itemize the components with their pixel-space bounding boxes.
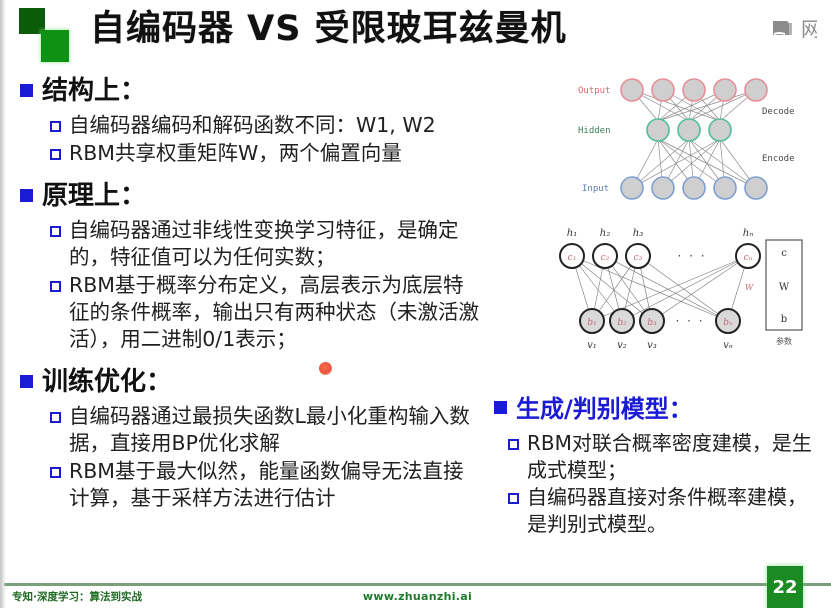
- rbm-label-v3: v₃: [647, 340, 657, 351]
- rbm-label-h3: h₃: [633, 228, 643, 239]
- section-heading-generative-discriminative: 生成/判别模型：: [494, 392, 824, 426]
- list-item-label: 自编码器通过最损失函数L最小化重构输入数据，直接用BP优化求解: [69, 403, 480, 457]
- rbm-label-vn: vₙ: [723, 340, 733, 351]
- hollow-square-bullet-icon: [50, 121, 61, 132]
- section-heading-principle: 原理上：: [20, 179, 480, 213]
- footer-divider: [4, 583, 831, 586]
- hollow-square-bullet-icon: [50, 467, 61, 478]
- ae-label-hidden: Hidden: [578, 126, 611, 136]
- section-heading-structure: 结构上：: [20, 74, 480, 108]
- section-heading-label: 原理上：: [42, 179, 146, 213]
- page-number-badge: 22: [767, 566, 803, 608]
- rbm-hidden-node-c3: c₃: [634, 253, 643, 263]
- section-list-structure: 自编码器编码和解码函数不同：W1, W2 RBM共享权重矩阵W，两个偏置向量: [20, 112, 480, 167]
- ae-label-output: Output: [578, 86, 611, 96]
- rbm-label-h1: h₁: [567, 228, 577, 239]
- list-item-label: RBM基于概率分布定义，高层表示为底层特征的条件概率，输出只有两种状态（未激活激…: [69, 272, 480, 353]
- rbm-visible-node-b2: b₂: [617, 318, 627, 328]
- logo-square-light-icon: [41, 30, 69, 62]
- rbm-hidden-node-cn: cₙ: [744, 253, 753, 263]
- rbm-diagram: c₁ c₂ c₃ cₙ b₁ b₂ b₃ bₙ h₁ h₂ h₃ hₙ v₁ v…: [500, 218, 826, 378]
- list-item-label: 自编码器编码和解码函数不同：W1, W2: [69, 112, 436, 139]
- rbm-visible-node-bn: bₙ: [723, 318, 733, 328]
- brand-watermark: 网: [771, 18, 817, 40]
- list-item-label: 自编码器通过非线性变换学习特征，是确定的，特征值可以为任何实数；: [69, 217, 480, 271]
- rbm-label-v2: v₂: [617, 340, 627, 351]
- page-title: 自编码器 VS 受限玻耳兹曼机: [90, 4, 710, 54]
- rbm-param-c: c: [781, 248, 787, 259]
- ae-label-encode: Encode: [762, 154, 795, 164]
- hollow-square-bullet-icon: [50, 412, 61, 423]
- rbm-param-caption: 参数: [776, 336, 792, 346]
- square-bullet-icon: [494, 401, 507, 414]
- list-item-label: 自编码器直接对条件概率建模，是判别式模型。: [527, 484, 824, 537]
- list-item: 自编码器通过最损失函数L最小化重构输入数据，直接用BP优化求解: [20, 403, 480, 457]
- section-heading-label: 生成/判别模型：: [516, 392, 693, 426]
- section-heading-training: 训练优化：: [20, 365, 480, 399]
- hollow-square-bullet-icon: [50, 226, 61, 237]
- rbm-hidden-node-c2: c₂: [601, 253, 610, 263]
- hollow-square-bullet-icon: [50, 281, 61, 292]
- square-bullet-icon: [20, 84, 33, 97]
- list-item-label: RBM对联合概率密度建模，是生成式模型；: [527, 430, 824, 483]
- rbm-label-hn: hₙ: [743, 228, 754, 239]
- rbm-param-b: b: [781, 314, 787, 325]
- list-item-label: RBM基于最大似然，能量函数偏导无法直接计算，基于采样方法进行估计: [69, 458, 480, 512]
- list-item: RBM基于最大似然，能量函数偏导无法直接计算，基于采样方法进行估计: [20, 458, 480, 512]
- square-bullet-icon: [20, 189, 33, 202]
- brand-logo: [19, 8, 75, 64]
- left-content-column: 结构上： 自编码器编码和解码函数不同：W1, W2 RBM共享权重矩阵W，两个偏…: [20, 74, 480, 524]
- slide-canvas: 自编码器 VS 受限玻耳兹曼机 网 结构上： 自编码器编码和解码函数不同：W1,…: [0, 0, 831, 608]
- rbm-label-h2: h₂: [600, 228, 610, 239]
- rbm-visible-node-b3: b₃: [647, 318, 657, 328]
- rbm-hidden-ellipsis: · · ·: [677, 249, 706, 263]
- list-item: RBM基于概率分布定义，高层表示为底层特征的条件概率，输出只有两种状态（未激活激…: [20, 272, 480, 353]
- list-item: RBM共享权重矩阵W，两个偏置向量: [20, 140, 480, 167]
- section-list-training: 自编码器通过最损失函数L最小化重构输入数据，直接用BP优化求解 RBM基于最大似…: [20, 403, 480, 512]
- rbm-visible-ellipsis: · · ·: [675, 314, 704, 328]
- rbm-hidden-node-c1: c₁: [568, 253, 577, 263]
- section-list-principle: 自编码器通过非线性变换学习特征，是确定的，特征值可以为任何实数； RBM基于概率…: [20, 217, 480, 353]
- list-item: RBM对联合概率密度建模，是生成式模型；: [494, 430, 824, 483]
- rbm-label-v1: v₁: [587, 340, 597, 351]
- hollow-square-bullet-icon: [50, 149, 61, 160]
- list-item-label: RBM共享权重矩阵W，两个偏置向量: [69, 140, 402, 167]
- section-list-generative-discriminative: RBM对联合概率密度建模，是生成式模型； 自编码器直接对条件概率建模，是判别式模…: [494, 430, 824, 537]
- list-item: 自编码器编码和解码函数不同：W1, W2: [20, 112, 480, 139]
- square-bullet-icon: [20, 375, 33, 388]
- section-heading-label: 结构上：: [42, 74, 146, 108]
- right-content-column: 生成/判别模型： RBM对联合概率密度建模，是生成式模型； 自编码器直接对条件概…: [494, 392, 824, 549]
- footer-website-label: www.zhuanzhi.ai: [2, 590, 831, 603]
- hollow-square-bullet-icon: [508, 493, 519, 504]
- list-item: 自编码器直接对条件概率建模，是判别式模型。: [494, 484, 824, 537]
- rbm-visible-node-b1: b₁: [587, 318, 596, 328]
- section-heading-label: 训练优化：: [42, 365, 172, 399]
- hollow-square-bullet-icon: [508, 439, 519, 450]
- book-icon: [771, 19, 795, 39]
- list-item: 自编码器通过非线性变换学习特征，是确定的，特征值可以为任何实数；: [20, 217, 480, 271]
- autoencoder-diagram: Output Hidden Input Decode Encode: [500, 68, 826, 210]
- brand-cut-text: 网: [801, 18, 817, 40]
- ae-label-input: Input: [582, 184, 609, 194]
- left-edge-shadow: [2, 0, 6, 608]
- rbm-param-w: W: [779, 282, 790, 293]
- ae-label-decode: Decode: [762, 107, 795, 117]
- rbm-weight-label: W: [745, 283, 754, 292]
